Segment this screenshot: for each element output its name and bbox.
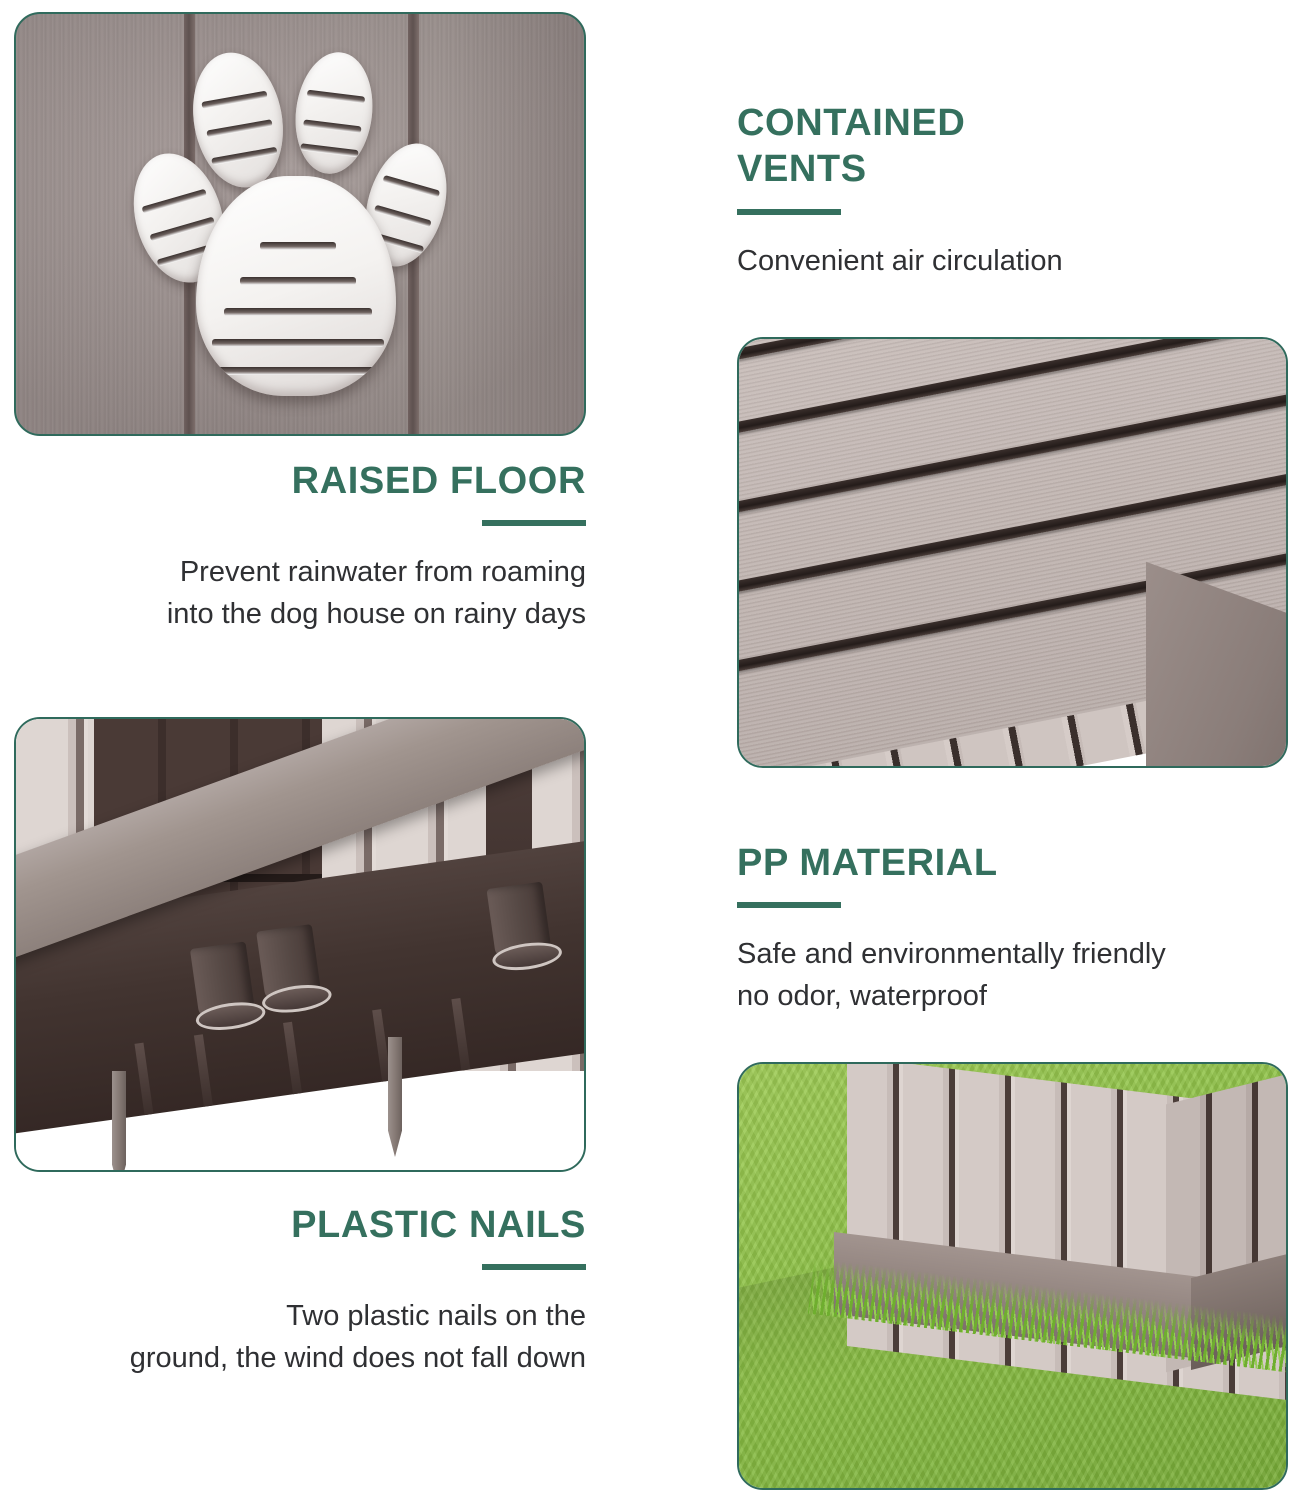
plastic-nail-stake xyxy=(388,1037,402,1157)
plastic-nail-stake xyxy=(112,1071,126,1170)
plastic-nails-scene xyxy=(16,719,584,1170)
feature-heading-raised-floor: RAISED FLOOR xyxy=(14,458,586,504)
paw-print-vent-icon xyxy=(136,34,496,434)
feature-heading-pp-material: PP MATERIAL xyxy=(737,840,1288,886)
stake-socket xyxy=(256,924,322,1007)
image-panel-plastic-nails xyxy=(14,717,586,1172)
stake-socket xyxy=(190,941,256,1024)
feature-body-pp-material: Safe and environmentally friendly no odo… xyxy=(737,934,1288,1016)
feature-block-plastic-nails: PLASTIC NAILS Two plastic nails on the g… xyxy=(14,1202,586,1379)
heading-divider xyxy=(482,1264,586,1270)
paw-toe-pad xyxy=(289,48,379,178)
image-panel-paw-vent xyxy=(14,12,586,436)
heading-divider xyxy=(737,902,841,908)
feature-heading-plastic-nails: PLASTIC NAILS xyxy=(14,1202,586,1248)
feature-heading-contained-vents: CONTAINED VENTS xyxy=(737,100,1288,193)
feature-body-contained-vents: Convenient air circulation xyxy=(737,241,1288,282)
heading-divider xyxy=(482,520,586,526)
image-panel-roof-planks xyxy=(737,337,1288,768)
infographic-page: RAISED FLOOR Prevent rainwater from roam… xyxy=(0,0,1304,1500)
feature-body-raised-floor: Prevent rainwater from roaming into the … xyxy=(14,552,586,634)
image-panel-grass-base xyxy=(737,1062,1288,1490)
stake-socket xyxy=(486,882,552,965)
feature-body-plastic-nails: Two plastic nails on the ground, the win… xyxy=(14,1296,586,1378)
grass-scene xyxy=(739,1064,1286,1488)
feature-block-contained-vents: CONTAINED VENTS Convenient air circulati… xyxy=(737,100,1288,282)
roof-scene xyxy=(739,339,1286,766)
paw-main-pad xyxy=(196,176,396,396)
feature-block-raised-floor: RAISED FLOOR Prevent rainwater from roam… xyxy=(14,458,586,635)
feature-block-pp-material: PP MATERIAL Safe and environmentally fri… xyxy=(737,840,1288,1017)
heading-divider xyxy=(737,209,841,215)
